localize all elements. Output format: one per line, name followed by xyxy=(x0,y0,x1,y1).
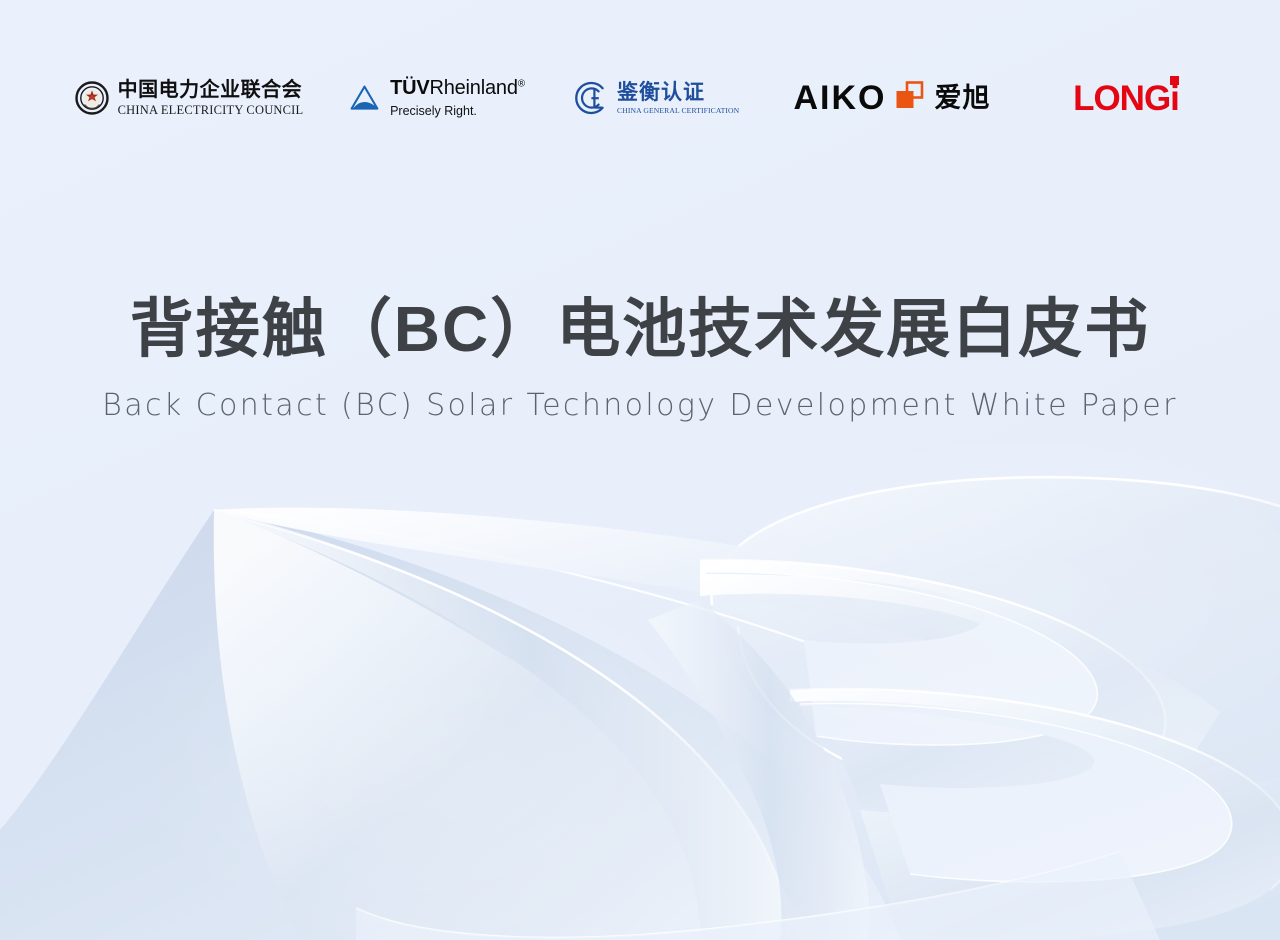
tuv-bold-part: TÜV xyxy=(390,77,429,99)
circular-seal-emblem-icon xyxy=(75,81,109,115)
white-paper-cover: 中国电力企业联合会 CHINA ELECTRICITY COUNCIL TÜVR… xyxy=(0,0,1280,940)
artwork-left-sail xyxy=(0,510,1160,940)
cgc-name-cn: 鉴衡认证 xyxy=(617,82,737,103)
tuv-light-part: Rheinland xyxy=(429,77,517,99)
tuv-tagline: Precisely Right. xyxy=(390,105,525,118)
square-dot-icon xyxy=(1170,76,1179,85)
longi-wordmark: LONGi xyxy=(1073,81,1179,116)
logo-longi: LONGi xyxy=(1027,62,1225,134)
cgc-name-en: CHINA GENERAL CERTIFICATION xyxy=(617,107,739,115)
tuv-triangle-swoosh-icon xyxy=(349,84,380,113)
longi-word-text: LONGi xyxy=(1073,79,1179,118)
aiko-wordmark: AIKO xyxy=(794,81,887,115)
artwork-right-bowl xyxy=(711,477,1280,940)
artwork-letter-b xyxy=(214,508,1280,940)
logo-china-general-certification: 鉴衡认证 CHINA GENERAL CERTIFICATION xyxy=(551,62,757,134)
page-title: 背接触（BC）电池技术发展白皮书 xyxy=(0,296,1280,363)
tuv-registered-mark: ® xyxy=(518,79,525,90)
logo-tuv-rheinland: TÜVRheinland® Precisely Right. xyxy=(323,62,551,134)
cover-artwork xyxy=(0,0,1280,940)
cec-name-cn: 中国电力企业联合会 xyxy=(118,80,304,100)
orange-overlapping-squares-icon xyxy=(895,81,925,115)
partner-logo-bar: 中国电力企业联合会 CHINA ELECTRICITY COUNCIL TÜVR… xyxy=(0,62,1280,134)
page-subtitle: Back Contact (BC) Solar Technology Devel… xyxy=(0,389,1280,422)
logo-aiko: AIKO 爱旭 xyxy=(757,62,1027,134)
title-block: 背接触（BC）电池技术发展白皮书 Back Contact (BC) Solar… xyxy=(0,296,1280,422)
gc-circle-monogram-icon xyxy=(571,79,611,117)
aiko-name-cn: 爱旭 xyxy=(935,85,991,112)
tuv-wordmark: TÜVRheinland® xyxy=(390,78,525,98)
cec-name-en: CHINA ELECTRICITY COUNCIL xyxy=(118,104,304,117)
logo-china-electricity-council: 中国电力企业联合会 CHINA ELECTRICITY COUNCIL xyxy=(55,62,323,134)
